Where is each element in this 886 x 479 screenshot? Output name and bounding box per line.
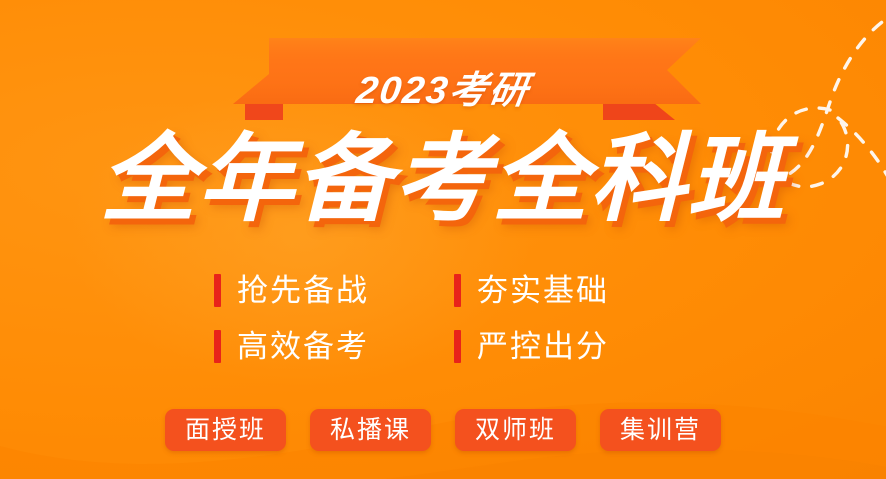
course-tag-button[interactable]: 集训营 [600,409,721,451]
ribbon-banner: 2023考研 [185,34,701,120]
feature-item: 夯实基础 [454,274,684,307]
feature-label: 抢先备战 [237,274,369,307]
accent-bar-icon [214,330,221,363]
page-title: 全年备考全科班 [0,130,886,230]
course-tag-list: 面授班 私播课 双师班 集训营 [0,409,886,451]
ribbon-label: 2023考研 [182,72,703,110]
accent-bar-icon [454,330,461,363]
course-tag-button[interactable]: 双师班 [455,409,576,451]
accent-bar-icon [454,274,461,307]
feature-list: 抢先备战 夯实基础 高效备考 严控出分 [214,262,684,374]
feature-label: 严控出分 [477,330,609,363]
feature-item: 抢先备战 [214,274,454,307]
course-tag-button[interactable]: 私播课 [310,409,431,451]
promo-banner: 2023考研 全年备考全科班 抢先备战 夯实基础 高效备考 严控出分 面授班 私… [0,0,886,479]
course-tag-button[interactable]: 面授班 [165,409,286,451]
feature-label: 夯实基础 [477,274,609,307]
feature-item: 严控出分 [454,330,684,363]
feature-label: 高效备考 [237,330,369,363]
accent-bar-icon [214,274,221,307]
feature-item: 高效备考 [214,330,454,363]
